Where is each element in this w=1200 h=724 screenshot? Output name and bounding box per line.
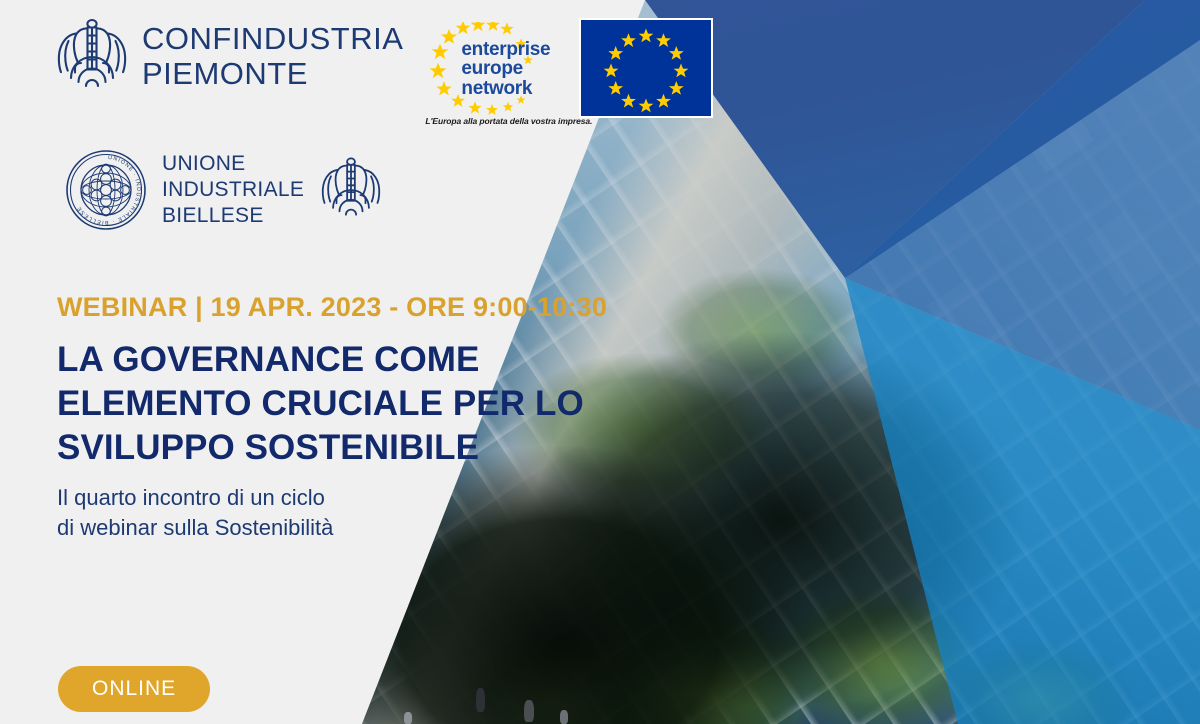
- uib-line3: BIELLESE: [162, 203, 304, 229]
- logo-row-primary: CONFINDUSTRIA PIEMONTE: [56, 16, 713, 126]
- logo-row-secondary: UNIONE · INDUSTRIALE · BIELLESE UNIONE I…: [64, 148, 382, 232]
- glass-pane-highlight: [996, 65, 1094, 172]
- poster-content: CONFINDUSTRIA PIEMONTE: [0, 0, 700, 724]
- glass-pane-highlight: [927, 278, 1013, 372]
- een-wordmark: enterprise europe network: [461, 40, 550, 98]
- uib-line1: UNIONE: [162, 151, 304, 177]
- unione-industriale-biellese-logo: UNIONE · INDUSTRIALE · BIELLESE UNIONE I…: [64, 148, 382, 232]
- confindustria-line2: PIEMONTE: [142, 57, 403, 92]
- enterprise-europe-network-logo: enterprise europe network L'Europa alla …: [425, 16, 557, 126]
- eu-flag-stars: [581, 20, 711, 116]
- eu-flag-icon: [579, 18, 713, 118]
- glass-pane-highlight: [1086, 212, 1165, 297]
- confindustria-piemonte-logo: CONFINDUSTRIA PIEMONTE: [56, 16, 403, 98]
- event-subtitle: Il quarto incontro di un ciclo di webina…: [57, 483, 487, 544]
- confindustria-line1: CONFINDUSTRIA: [142, 22, 403, 57]
- subtitle-line-1: Il quarto incontro di un ciclo: [57, 483, 487, 513]
- een-line2: europe: [461, 59, 550, 78]
- online-badge-button[interactable]: ONLINE: [58, 666, 210, 712]
- title-line-3: SVILUPPO SOSTENIBILE: [57, 426, 657, 470]
- uib-wordmark: UNIONE INDUSTRIALE BIELLESE: [162, 151, 304, 230]
- uib-circular-seal-icon: UNIONE · INDUSTRIALE · BIELLESE: [64, 148, 148, 232]
- uib-line2: INDUSTRIALE: [162, 177, 304, 203]
- title-line-2: ELEMENTO CRUCIALE PER LO: [57, 382, 657, 426]
- confindustria-wordmark: CONFINDUSTRIA PIEMONTE: [142, 22, 403, 91]
- event-eyebrow: WEBINAR | 19 APR. 2023 - ORE 9:00-10:30: [57, 292, 607, 323]
- webinar-poster: CONFINDUSTRIA PIEMONTE: [0, 0, 1200, 724]
- confindustria-eagle-icon: [56, 16, 128, 98]
- page-title: LA GOVERNANCE COME ELEMENTO CRUCIALE PER…: [57, 338, 657, 470]
- title-line-1: LA GOVERNANCE COME: [57, 338, 657, 382]
- een-line1: enterprise: [461, 40, 550, 59]
- confindustria-eagle-icon: [320, 155, 382, 225]
- een-line3: network: [461, 79, 550, 98]
- subtitle-line-2: di webinar sulla Sostenibilità: [57, 513, 487, 543]
